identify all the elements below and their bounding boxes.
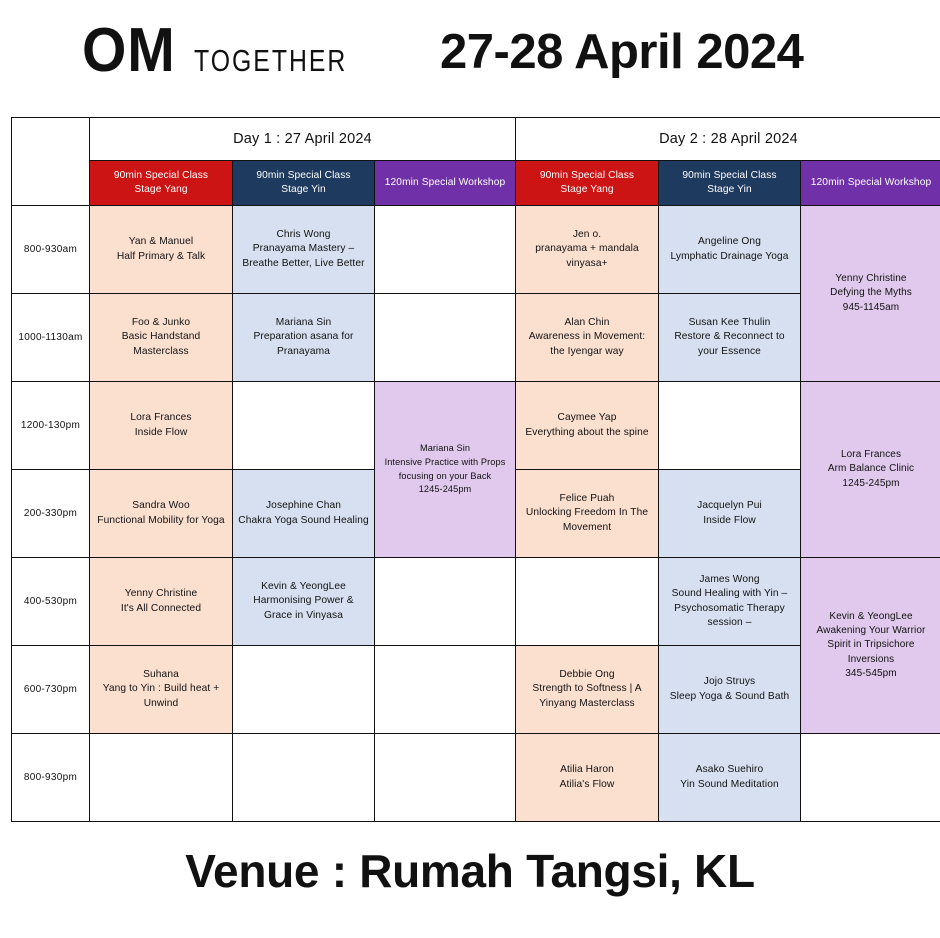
- session-day1-yin[interactable]: Josephine Chan Chakra Yoga Sound Healing: [233, 470, 375, 558]
- venue-text: Venue : Rumah Tangsi, KL: [0, 848, 940, 894]
- session-day2-yang[interactable]: Caymee Yap Everything about the spine: [516, 382, 659, 470]
- session-day1-yin: [233, 646, 375, 734]
- time-slot-label: 200-330pm: [12, 470, 90, 558]
- time-slot-label: 1000-1130am: [12, 294, 90, 382]
- table-row: 800-930am Yan & Manuel Half Primary & Ta…: [12, 206, 940, 294]
- table-row: 1200-130pm Lora Frances Inside Flow Mari…: [12, 382, 940, 470]
- session-day2-yang[interactable]: Debbie Ong Strength to Softness | A Yiny…: [516, 646, 659, 734]
- session-day1-yang[interactable]: Lora Frances Inside Flow: [90, 382, 233, 470]
- session-day2-yin[interactable]: Angeline Ong Lymphatic Drainage Yoga: [659, 206, 801, 294]
- session-day1-yin: [233, 734, 375, 822]
- session-day2-yin[interactable]: Susan Kee Thulin Restore & Reconnect to …: [659, 294, 801, 382]
- day-header-2: Day 2 : 28 April 2024: [516, 118, 940, 161]
- table-row: 400-530pm Yenny Christine It's All Conne…: [12, 558, 940, 646]
- session-day1-workshop: [375, 294, 516, 382]
- time-slot-label: 1200-130pm: [12, 382, 90, 470]
- time-slot-label: 800-930am: [12, 206, 90, 294]
- session-day2-yang[interactable]: Felice Puah Unlocking Freedom In The Mov…: [516, 470, 659, 558]
- logo-together-text: TOGETHER: [194, 45, 347, 76]
- session-day2-workshop[interactable]: Yenny Christine Defying the Myths 945-11…: [801, 206, 940, 382]
- session-day2-yang: [516, 558, 659, 646]
- session-day1-yin[interactable]: Mariana Sin Preparation asana for Pranay…: [233, 294, 375, 382]
- session-day1-yang[interactable]: Foo & Junko Basic Handstand Masterclass: [90, 294, 233, 382]
- event-dates: 27-28 April 2024: [440, 28, 803, 77]
- day-header-1: Day 1 : 27 April 2024: [90, 118, 516, 161]
- track-header-day1-yin: 90min Special Class Stage Yin: [233, 161, 375, 206]
- session-day1-yin[interactable]: Chris Wong Pranayama Mastery – Breathe B…: [233, 206, 375, 294]
- session-day2-yang[interactable]: Atilia Haron Atilia's Flow: [516, 734, 659, 822]
- table-row: 800-930pm Atilia Haron Atilia's Flow Asa…: [12, 734, 940, 822]
- session-day2-yin[interactable]: James Wong Sound Healing with Yin – Psyc…: [659, 558, 801, 646]
- session-day2-workshop[interactable]: Lora Frances Arm Balance Clinic 1245-245…: [801, 382, 940, 558]
- session-day2-yin[interactable]: Jacquelyn Pui Inside Flow: [659, 470, 801, 558]
- session-day1-workshop: [375, 206, 516, 294]
- poster-header: OM TOGETHER 27-28 April 2024: [0, 0, 940, 110]
- track-header-day1-workshop: 120min Special Workshop: [375, 161, 516, 206]
- logo-om-text: OM: [82, 20, 176, 82]
- table-head: Day 1 : 27 April 2024 Day 2 : 28 April 2…: [12, 118, 940, 206]
- time-slot-label: 600-730pm: [12, 646, 90, 734]
- session-day2-yang[interactable]: Alan Chin Awareness in Movement: the Iye…: [516, 294, 659, 382]
- session-day1-yin[interactable]: Kevin & YeongLee Harmonising Power & Gra…: [233, 558, 375, 646]
- track-header-day2-yin: 90min Special Class Stage Yin: [659, 161, 801, 206]
- track-header-day1-yang: 90min Special Class Stage Yang: [90, 161, 233, 206]
- session-day2-yin[interactable]: Jojo Struys Sleep Yoga & Sound Bath: [659, 646, 801, 734]
- session-day1-yin: [233, 382, 375, 470]
- session-day2-yin: [659, 382, 801, 470]
- brand-logo: OM TOGETHER: [82, 20, 386, 82]
- session-day1-yang[interactable]: Yan & Manuel Half Primary & Talk: [90, 206, 233, 294]
- session-day1-yang: [90, 734, 233, 822]
- session-day1-workshop: [375, 558, 516, 646]
- session-day2-workshop: [801, 734, 940, 822]
- track-header-day2-workshop: 120min Special Workshop: [801, 161, 940, 206]
- session-day1-workshop[interactable]: Mariana Sin Intensive Practice with Prop…: [375, 382, 516, 558]
- track-header-row: 90min Special Class Stage Yang 90min Spe…: [12, 161, 940, 206]
- session-day1-yang[interactable]: Yenny Christine It's All Connected: [90, 558, 233, 646]
- track-header-day2-yang: 90min Special Class Stage Yang: [516, 161, 659, 206]
- time-column-header: [12, 118, 90, 206]
- table-body: 800-930am Yan & Manuel Half Primary & Ta…: [12, 206, 940, 822]
- schedule-poster: OM TOGETHER 27-28 April 2024 Day 1 : 27 …: [0, 0, 940, 938]
- time-slot-label: 800-930pm: [12, 734, 90, 822]
- session-day2-yang[interactable]: Jen o. pranayama + mandala vinyasa+: [516, 206, 659, 294]
- session-day1-workshop: [375, 646, 516, 734]
- session-day1-workshop: [375, 734, 516, 822]
- schedule-table: Day 1 : 27 April 2024 Day 2 : 28 April 2…: [11, 117, 940, 822]
- session-day2-yin[interactable]: Asako Suehiro Yin Sound Meditation: [659, 734, 801, 822]
- schedule-table-container: Day 1 : 27 April 2024 Day 2 : 28 April 2…: [11, 117, 929, 822]
- day-header-row: Day 1 : 27 April 2024 Day 2 : 28 April 2…: [12, 118, 940, 161]
- time-slot-label: 400-530pm: [12, 558, 90, 646]
- session-day2-workshop[interactable]: Kevin & YeongLee Awakening Your Warrior …: [801, 558, 940, 734]
- session-day1-yang[interactable]: Suhana Yang to Yin : Build heat + Unwind: [90, 646, 233, 734]
- session-day1-yang[interactable]: Sandra Woo Functional Mobility for Yoga: [90, 470, 233, 558]
